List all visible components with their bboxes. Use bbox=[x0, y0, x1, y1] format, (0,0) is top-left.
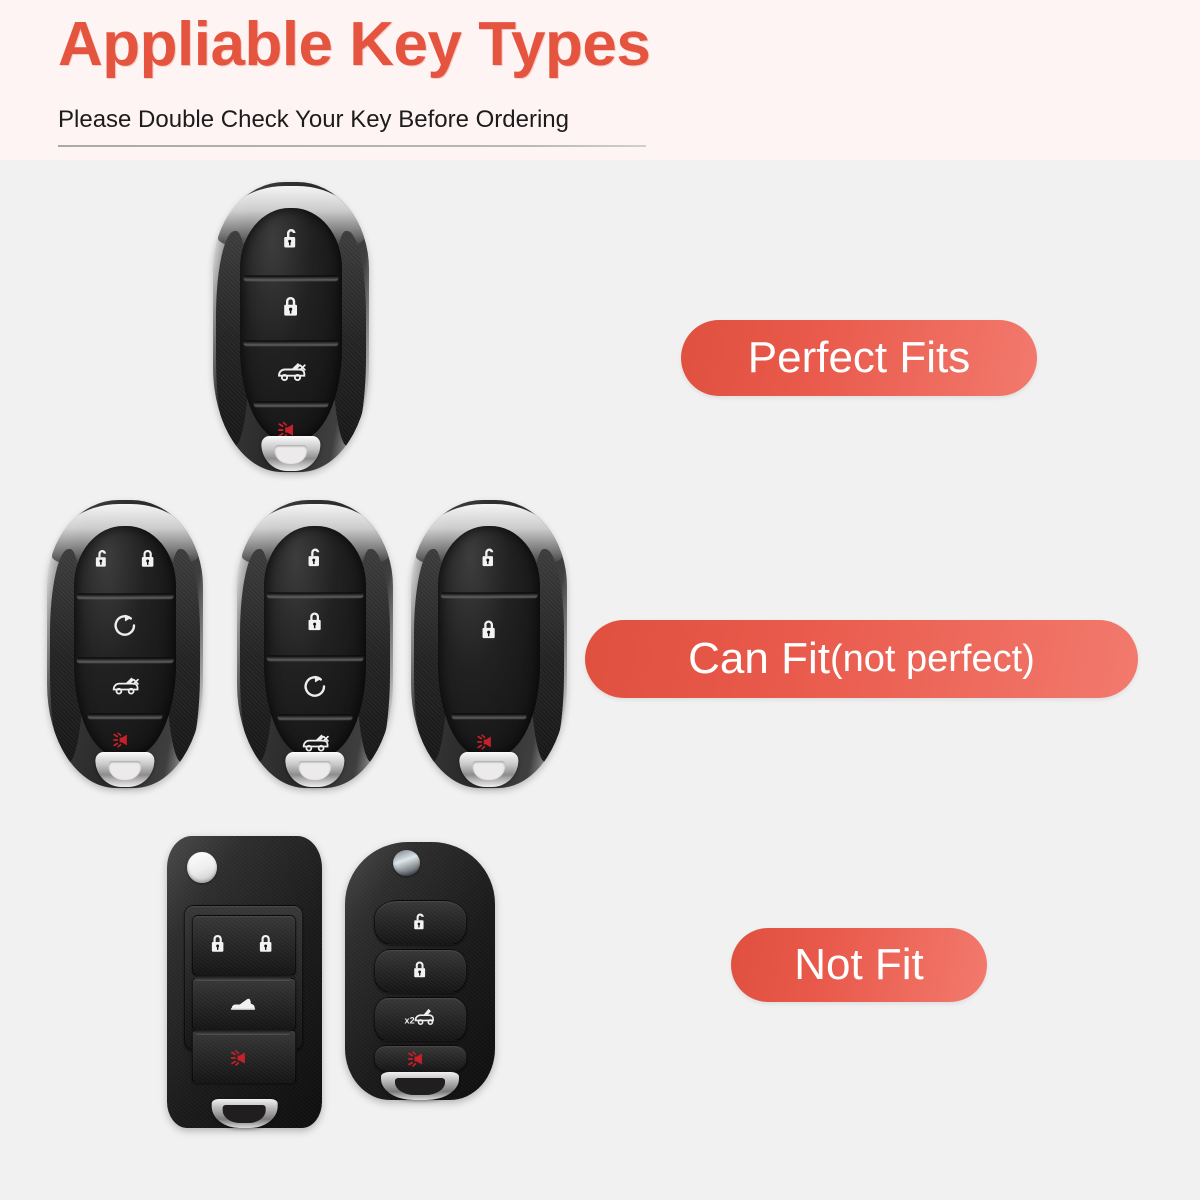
badge-perfect-fits-label: Perfect Fits bbox=[748, 333, 971, 383]
logo-badge-icon bbox=[187, 852, 216, 883]
page-title: Appliable Key Types bbox=[58, 14, 650, 76]
button-separator bbox=[243, 275, 338, 280]
button-separator bbox=[243, 340, 338, 345]
badge-perfect-fits: Perfect Fits bbox=[681, 320, 1037, 396]
header-divider bbox=[58, 145, 646, 147]
button-pad-trunk bbox=[192, 978, 296, 1031]
fob-shell bbox=[167, 836, 322, 1128]
key-fob-smart-5button bbox=[47, 500, 203, 788]
badge-can-fit: Can Fit (not perfect) bbox=[585, 620, 1138, 698]
button-pad-panic bbox=[192, 1030, 296, 1083]
button-separator bbox=[195, 975, 291, 981]
button-pad-panic bbox=[374, 1045, 467, 1073]
key-fob-smart-4button-remote-start bbox=[237, 500, 393, 788]
key-fob-flip-black-rounded-4button: x2 bbox=[345, 842, 495, 1100]
button-separator bbox=[77, 594, 174, 599]
button-separator bbox=[88, 714, 163, 719]
button-separator bbox=[441, 593, 538, 598]
fob-button-face bbox=[264, 526, 367, 756]
fob-button-face bbox=[438, 526, 541, 756]
button-separator bbox=[267, 656, 364, 661]
badge-not-fit-label: Not Fit bbox=[794, 940, 924, 990]
button-separator bbox=[195, 1029, 291, 1035]
key-fob-flip-black-4button bbox=[167, 836, 322, 1128]
button-pad-trunk bbox=[374, 997, 467, 1041]
badge-not-fit: Not Fit bbox=[731, 928, 987, 1002]
key-fob-smart-3button bbox=[411, 500, 567, 788]
badge-can-fit-label-sub: (not perfect) bbox=[830, 638, 1035, 681]
fob-shell bbox=[411, 500, 567, 788]
button-pad-lock-row bbox=[192, 915, 296, 976]
page-header: Appliable Key Types Please Double Check … bbox=[0, 0, 1200, 160]
badge-can-fit-label-main: Can Fit bbox=[688, 634, 830, 684]
button-separator bbox=[254, 401, 329, 406]
button-separator bbox=[267, 593, 364, 598]
fob-button-face bbox=[74, 526, 177, 756]
fob-shell bbox=[47, 500, 203, 788]
fob-shell bbox=[237, 500, 393, 788]
button-separator bbox=[77, 657, 174, 662]
button-pad-lock bbox=[374, 949, 467, 993]
button-pad-unlock bbox=[374, 900, 467, 945]
fob-shell bbox=[213, 182, 369, 472]
fob-shell bbox=[345, 842, 495, 1100]
logo-badge-icon bbox=[393, 850, 420, 876]
button-separator bbox=[452, 714, 527, 719]
key-fob-smart-4button bbox=[213, 182, 369, 472]
page-subtitle: Please Double Check Your Key Before Orde… bbox=[58, 106, 569, 134]
button-separator bbox=[278, 715, 353, 720]
